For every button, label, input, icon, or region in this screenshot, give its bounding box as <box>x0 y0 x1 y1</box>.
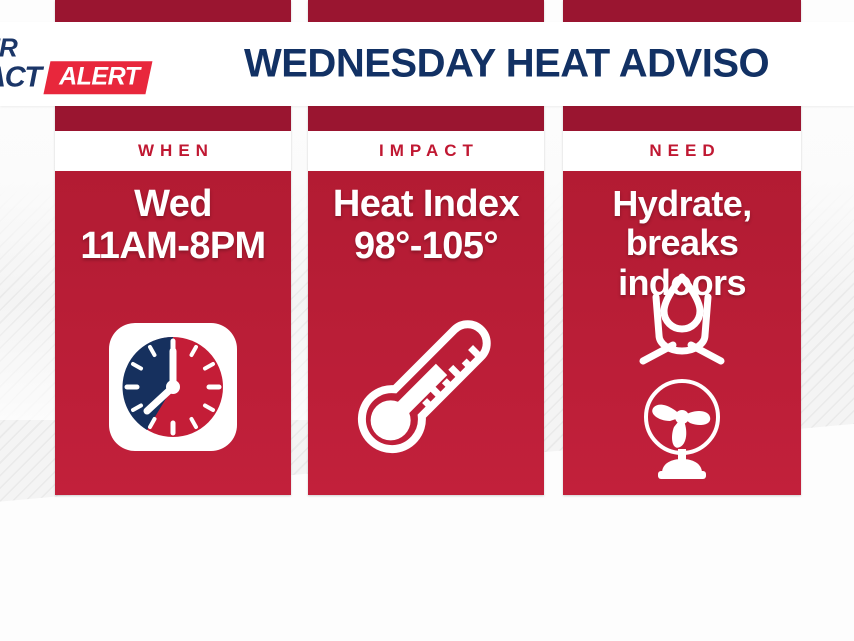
page-title: WEDNESDAY HEAT ADVISO <box>244 42 769 87</box>
logo-impact-text: MPACT <box>0 63 41 92</box>
card-body-text: Heat Index 98°-105° <box>308 171 544 266</box>
logo-impact-alert-row: MPACT ALERT <box>0 61 236 94</box>
card-label-band: IMPACT <box>308 131 544 171</box>
logo-weather-text: THER <box>0 34 236 60</box>
card-label: IMPACT <box>373 141 479 161</box>
thermometer-icon <box>326 285 526 485</box>
water-droplet-icon <box>623 269 741 373</box>
card-body-line: Hydrate, <box>569 183 795 222</box>
card-label-band: WHEN <box>55 131 291 171</box>
card-body-line: breaks <box>569 222 795 261</box>
logo-alert-badge: ALERT <box>43 61 152 94</box>
card-icon-area <box>563 265 801 495</box>
card-label-band: NEED <box>563 131 801 171</box>
card-body-line: Wed <box>61 183 285 225</box>
clock-icon <box>107 321 239 453</box>
card-body-line: Heat Index <box>314 183 538 225</box>
header-band: THER MPACT ALERT WEDNESDAY HEAT ADVISO <box>0 22 854 106</box>
card-label: WHEN <box>132 141 214 161</box>
fan-icon <box>630 375 734 479</box>
card-icon-area <box>55 295 291 495</box>
card-icon-area <box>308 280 544 495</box>
card-body-line: 11AM-8PM <box>61 225 285 267</box>
card-body-line: 98°-105° <box>314 225 538 267</box>
card-label: NEED <box>643 141 720 161</box>
weather-impact-alert-logo: THER MPACT ALERT <box>0 34 236 94</box>
logo-alert-text: ALERT <box>59 63 139 91</box>
card-body-text: Wed 11AM-8PM <box>55 171 291 266</box>
